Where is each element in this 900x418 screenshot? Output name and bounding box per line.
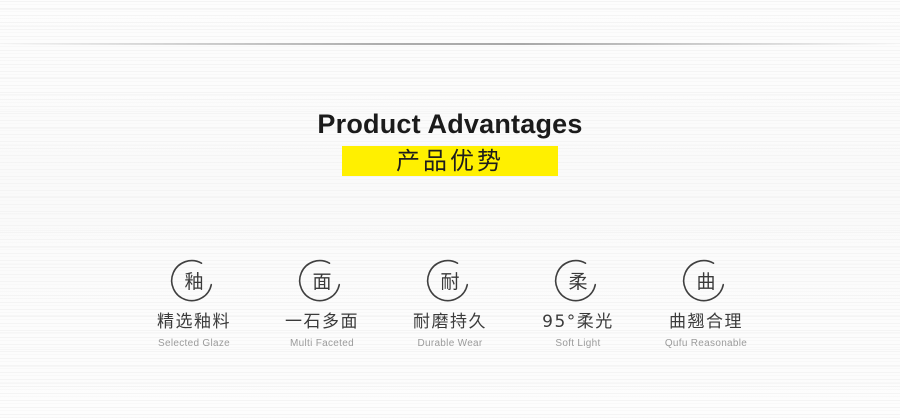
faceted-circle-icon: 面: [258, 258, 386, 304]
warp-circle-icon: 曲: [642, 258, 770, 304]
warp-icon-glyph: 曲: [696, 271, 715, 293]
advantage-item-durable-wear: 耐 耐磨持久 Durable Wear: [386, 258, 514, 351]
glaze-icon-glyph: 釉: [184, 271, 203, 293]
advantage-item-multi-faceted: 面 一石多面 Multi Faceted: [258, 258, 386, 351]
soft-light-circle-icon: 柔: [514, 258, 642, 304]
advantage-subtitle: Durable Wear: [386, 337, 514, 351]
glaze-circle-icon: 釉: [130, 258, 258, 304]
durable-circle-icon: 耐: [386, 258, 514, 304]
advantage-subtitle: Selected Glaze: [130, 337, 258, 351]
advantage-title: 一石多面: [258, 311, 386, 333]
page-title-chinese: 产品优势: [342, 146, 558, 176]
page-heading: Product Advantages 产品优势: [0, 108, 900, 176]
advantage-title: 精选釉料: [130, 311, 258, 333]
top-divider: [0, 43, 900, 45]
advantage-subtitle: Soft Light: [514, 337, 642, 351]
advantage-subtitle: Multi Faceted: [258, 337, 386, 351]
advantage-item-soft-light: 柔 95°柔光 Soft Light: [514, 258, 642, 351]
page-title-chinese-wrapper: 产品优势: [0, 146, 900, 176]
advantages-list: 釉 精选釉料 Selected Glaze 面 一石多面 Multi Facet…: [130, 258, 770, 351]
soft-light-icon-glyph: 柔: [568, 271, 587, 293]
advantage-title: 95°柔光: [514, 311, 642, 333]
page-background: Product Advantages 产品优势 釉 精选釉料 Selected …: [0, 0, 900, 418]
durable-icon-glyph: 耐: [440, 271, 459, 293]
advantage-item-selected-glaze: 釉 精选釉料 Selected Glaze: [130, 258, 258, 351]
advantage-subtitle: Qufu Reasonable: [642, 337, 770, 351]
advantage-title: 耐磨持久: [386, 311, 514, 333]
advantage-title: 曲翘合理: [642, 311, 770, 333]
advantage-item-qufu-reasonable: 曲 曲翘合理 Qufu Reasonable: [642, 258, 770, 351]
faceted-icon-glyph: 面: [312, 271, 331, 293]
page-title-english: Product Advantages: [0, 108, 900, 140]
